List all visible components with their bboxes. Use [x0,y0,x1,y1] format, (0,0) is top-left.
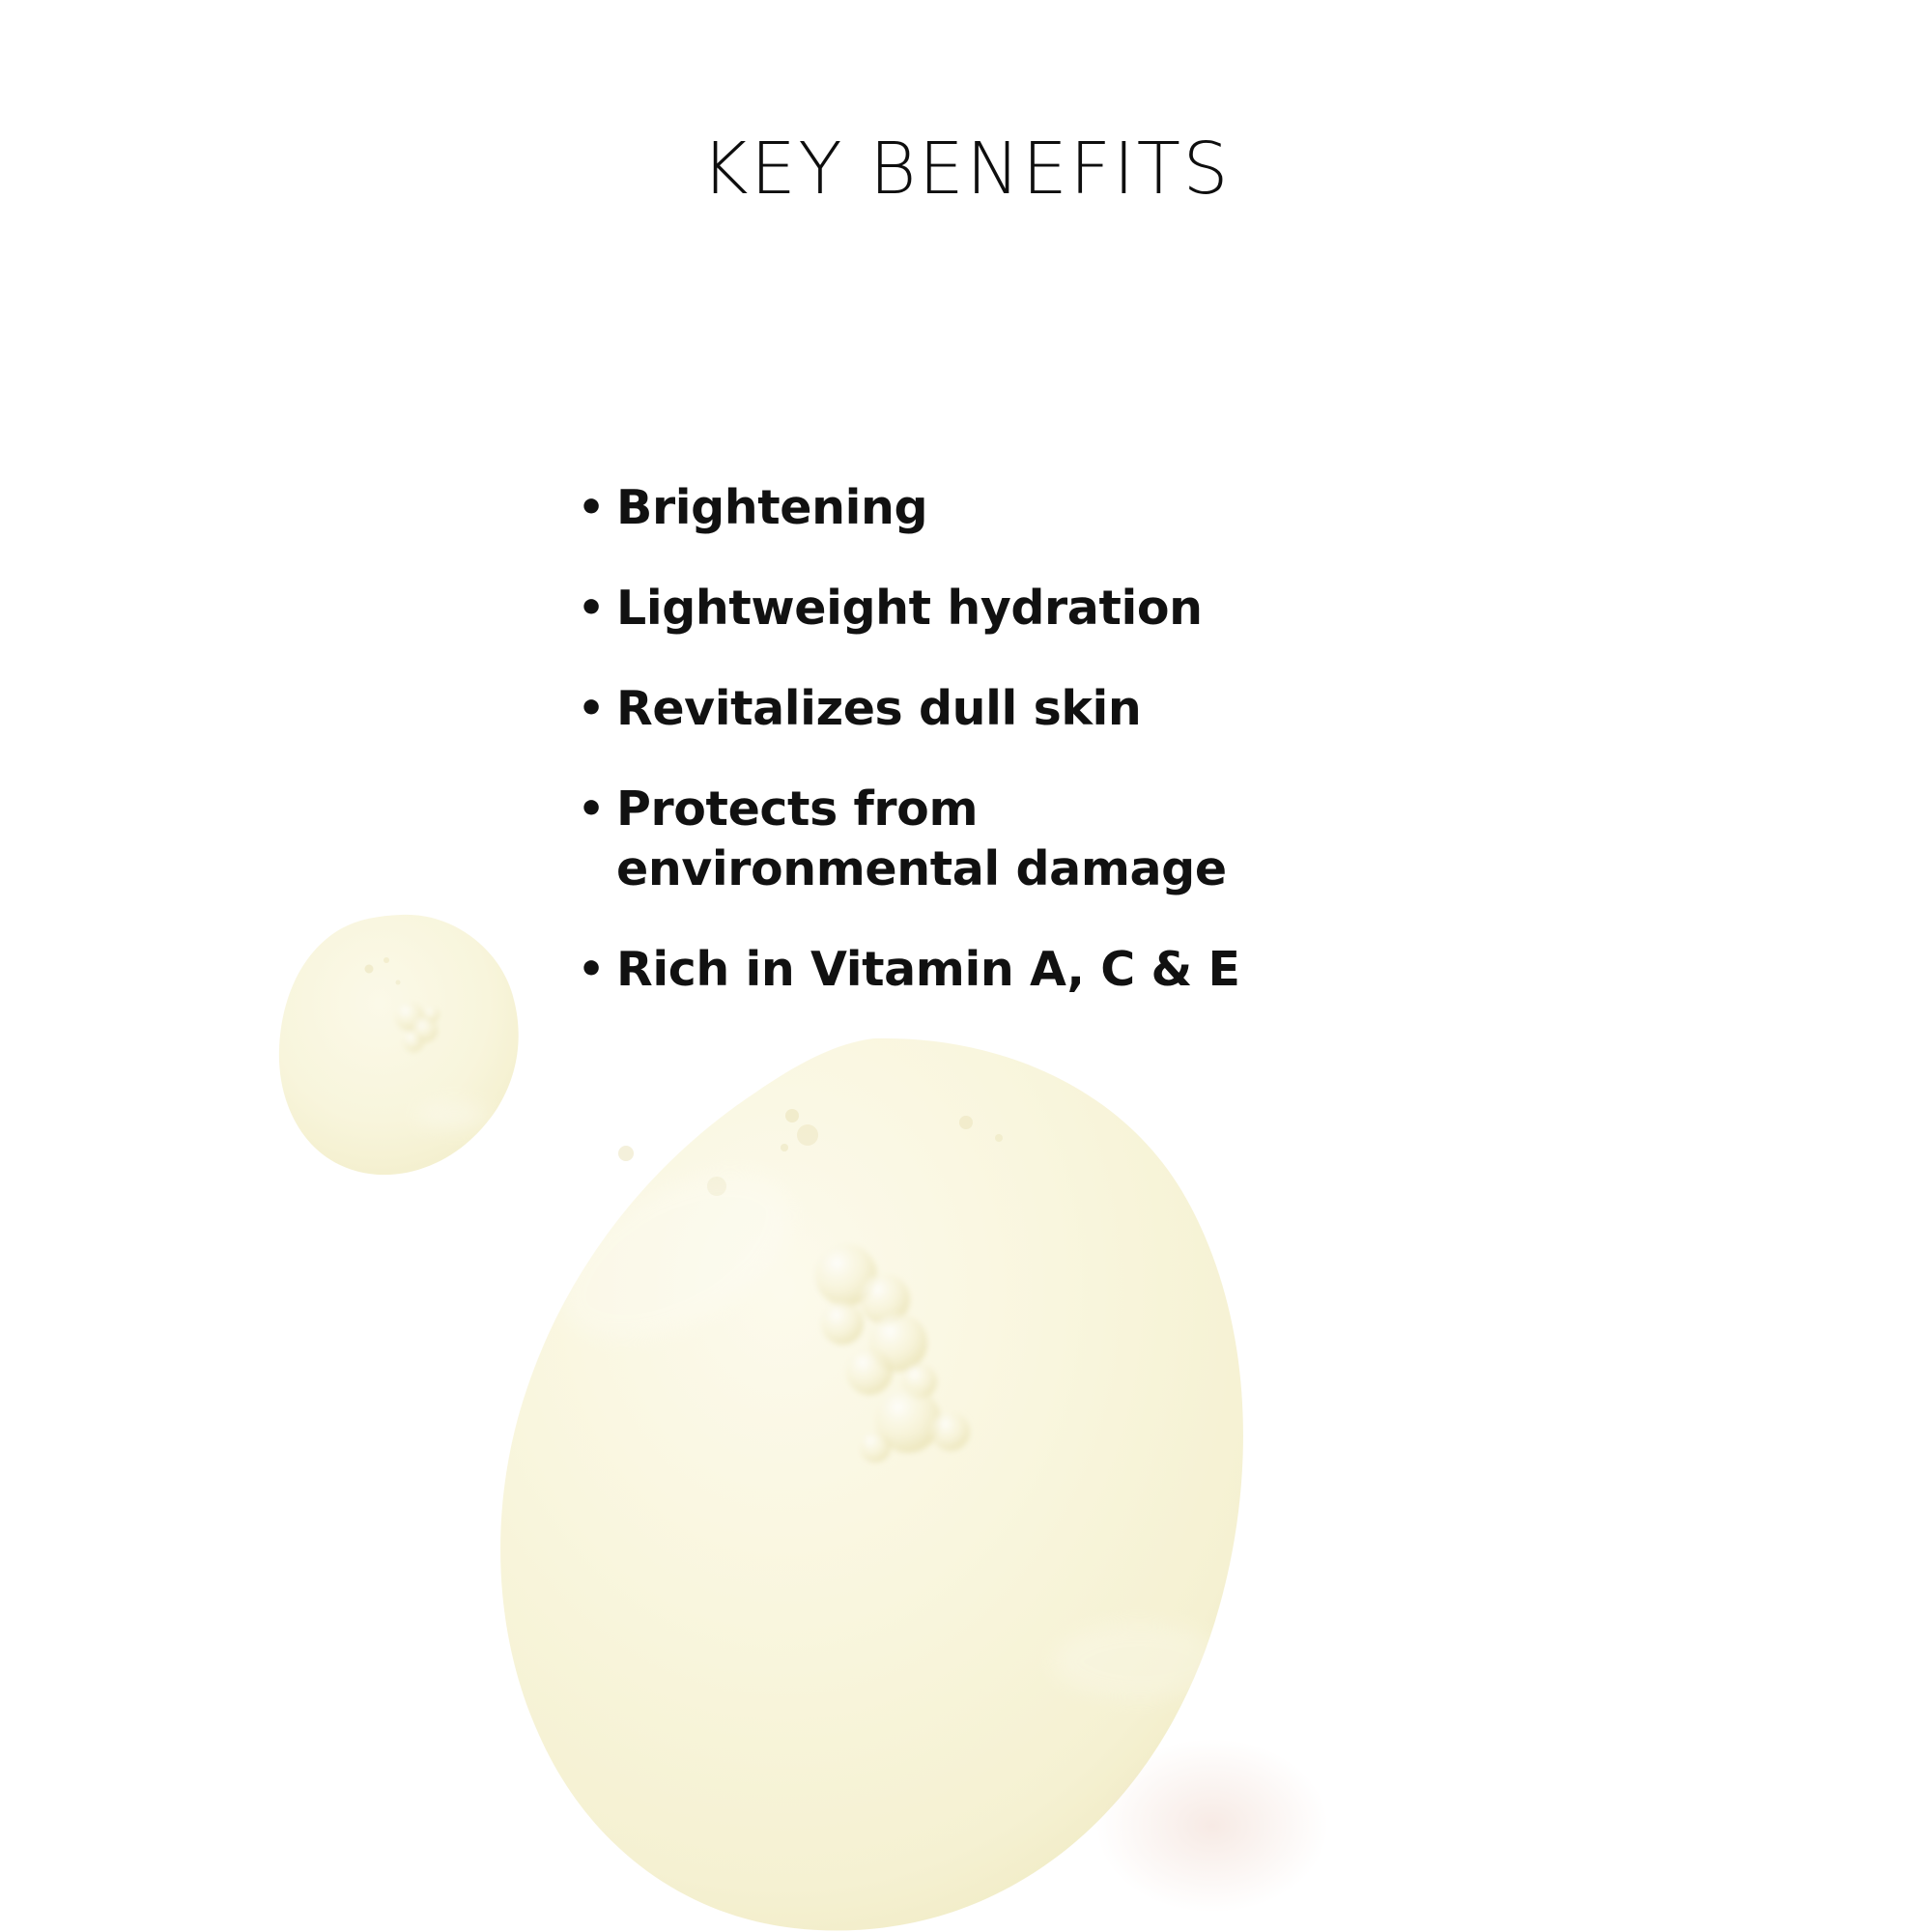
benefit-label: Lightweight hydration [616,579,1447,639]
bullet-icon: • [578,679,616,739]
bullet-icon: • [578,478,616,538]
list-item: • Rich in Vitamin A, C & E [578,940,1447,1000]
list-item: • Brightening [578,478,1447,538]
bullet-icon: • [578,579,616,639]
benefit-label: Rich in Vitamin A, C & E [616,940,1447,1000]
list-item: • Protects from environmental damage [578,780,1447,899]
benefits-list: • Brightening • Lightweight hydration • … [578,478,1447,1000]
benefit-label: Protects from environmental damage [616,780,1447,899]
bullet-icon: • [578,940,616,1000]
large-serum-droplet [500,1038,1328,1931]
small-serum-droplet [279,915,519,1175]
bullet-icon: • [578,780,616,839]
list-item: • Revitalizes dull skin [578,679,1447,739]
page-title: KEY BENEFITS [0,133,1932,205]
benefit-label: Brightening [616,478,1447,538]
key-benefits-slide: KEY BENEFITS • Brightening • Lightweight… [0,0,1932,1932]
benefit-label: Revitalizes dull skin [616,679,1447,739]
list-item: • Lightweight hydration [578,579,1447,639]
